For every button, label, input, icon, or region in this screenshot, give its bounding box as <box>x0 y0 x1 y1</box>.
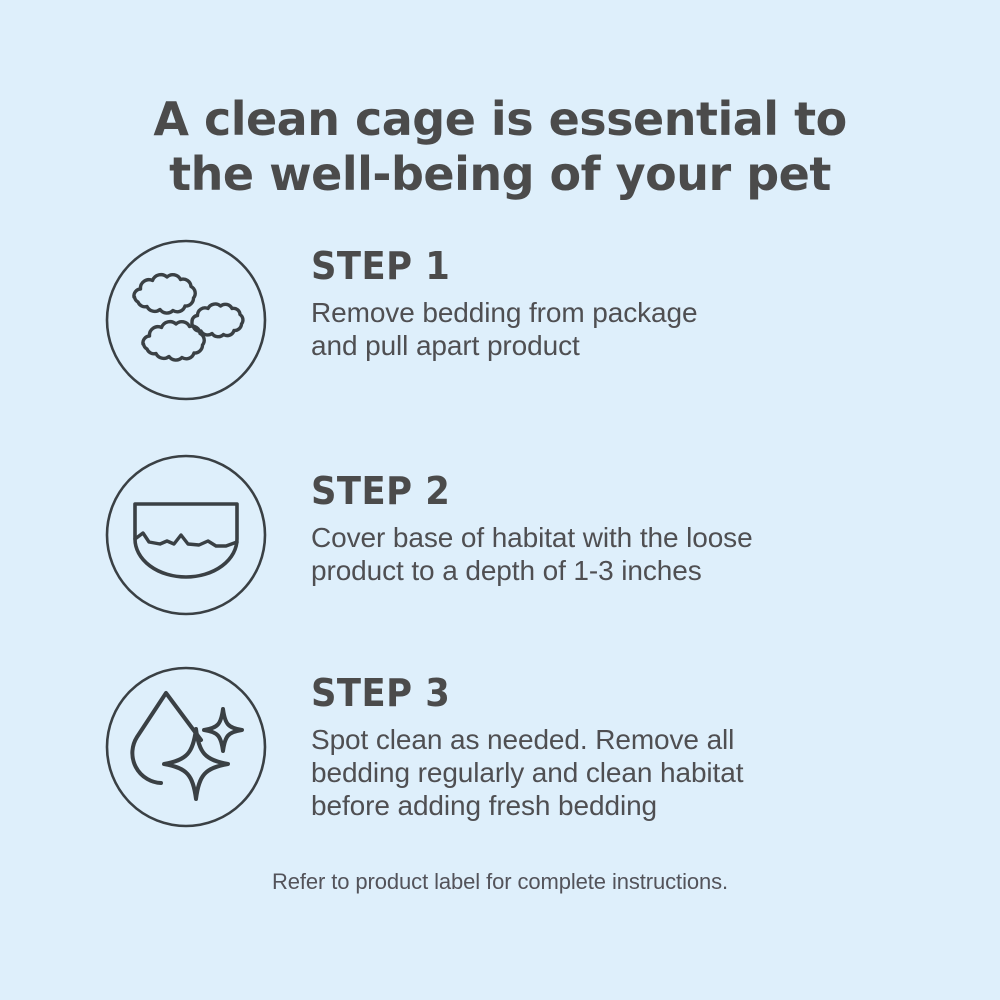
step-3-text: STEP 3 Spot clean as needed. Remove all … <box>311 673 951 822</box>
step-1-body-line-2: and pull apart product <box>311 329 951 362</box>
step-3-body: Spot clean as needed. Remove all bedding… <box>311 723 951 822</box>
step-3-body-line-1: Spot clean as needed. Remove all <box>311 723 951 756</box>
step-2-heading: STEP 2 <box>311 471 906 511</box>
step-2-body-line-1: Cover base of habitat with the loose <box>311 521 951 554</box>
page-title: A clean cage is essential to the well-be… <box>0 92 1000 202</box>
page-title-line-2: the well-being of your pet <box>0 147 1000 202</box>
step-1-body-line-1: Remove bedding from package <box>311 296 951 329</box>
step-1-body: Remove bedding from package and pull apa… <box>311 296 951 362</box>
step-1-text: STEP 1 Remove bedding from package and p… <box>311 246 951 362</box>
step-2-body: Cover base of habitat with the loose pro… <box>311 521 951 587</box>
droplet-sparkle-icon <box>104 665 268 829</box>
footer-note: Refer to product label for complete inst… <box>0 869 1000 895</box>
step-item-3: STEP 3 Spot clean as needed. Remove all … <box>0 665 1000 855</box>
step-3-heading: STEP 3 <box>311 673 906 713</box>
step-3-body-line-2: bedding regularly and clean habitat <box>311 756 951 789</box>
page-title-line-1: A clean cage is essential to <box>0 92 1000 147</box>
step-item-1: STEP 1 Remove bedding from package and p… <box>0 238 1000 453</box>
habitat-base-fill-icon <box>104 453 268 617</box>
bedding-clouds-icon <box>104 238 268 402</box>
step-3-body-line-3: before adding fresh bedding <box>311 789 951 822</box>
step-2-body-line-2: product to a depth of 1-3 inches <box>311 554 951 587</box>
step-2-text: STEP 2 Cover base of habitat with the lo… <box>311 471 951 587</box>
instructions-poster: A clean cage is essential to the well-be… <box>0 0 1000 1000</box>
step-item-2: STEP 2 Cover base of habitat with the lo… <box>0 453 1000 665</box>
steps-list: STEP 1 Remove bedding from package and p… <box>0 238 1000 855</box>
step-1-heading: STEP 1 <box>311 246 906 286</box>
